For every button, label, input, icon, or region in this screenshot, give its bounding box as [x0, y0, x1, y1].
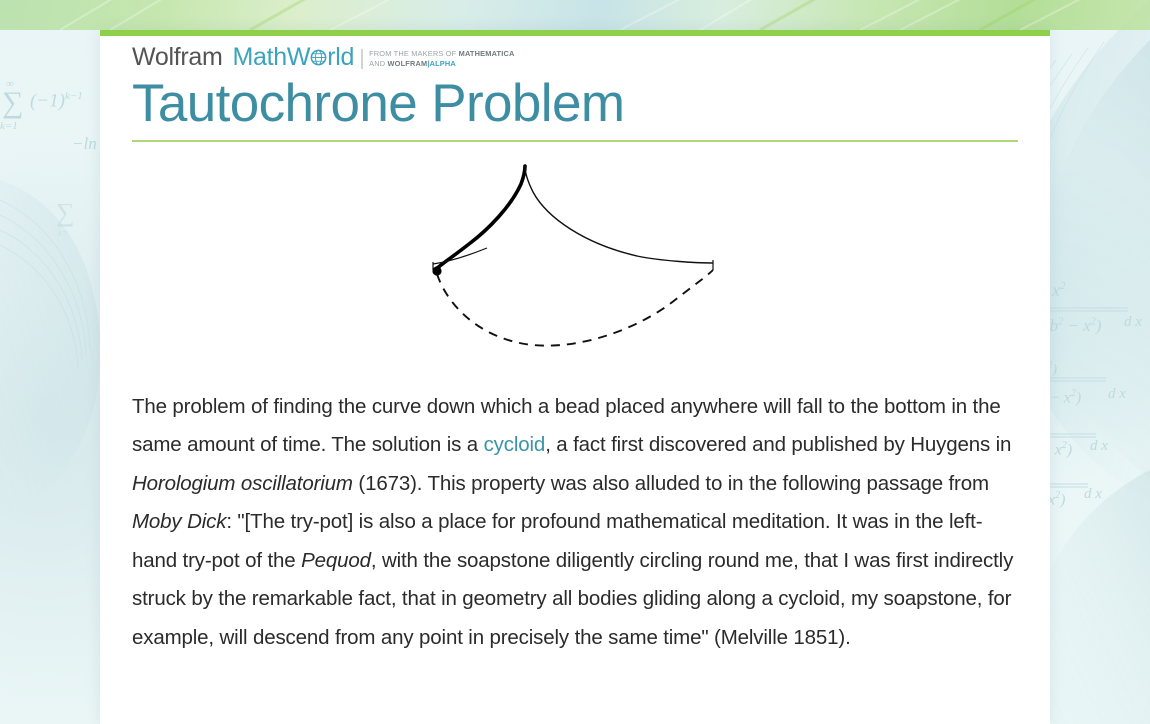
bg-math-minus-ln: −ln	[72, 134, 97, 154]
bg-math-sum-2: ∑	[56, 198, 75, 228]
figure-container	[132, 142, 1018, 372]
bead-dot	[432, 266, 441, 275]
logo-tagline: FROM THE MAKERS OF MATHEMATICA AND WOLFR…	[361, 49, 514, 69]
bg-math-infinity: ∞	[6, 78, 14, 90]
logo-text-w: W	[287, 45, 310, 70]
bg-math-fraction-bars	[1036, 300, 1150, 510]
tagline-mathematica: MATHEMATICA	[459, 49, 515, 58]
title-moby-dick: Moby Dick	[132, 510, 226, 533]
bg-math-minus-one-k: (−1)k−1	[30, 90, 83, 112]
tagline-wolfram: WOLFRAM	[387, 59, 427, 68]
bg-math-k-equals-1: k=1	[0, 120, 18, 132]
banner-streaks	[0, 0, 1150, 30]
top-decorative-banner	[0, 0, 1150, 30]
logo-tagline-line-2: AND WOLFRAM|ALPHA	[369, 59, 514, 69]
body-seg-2: , a fact first discovered and published …	[545, 433, 1011, 456]
tagline-alpha: |ALPHA	[427, 59, 456, 68]
tautochrone-cycloid-figure[interactable]	[425, 158, 725, 358]
article-body: The problem of finding the curve down wh…	[132, 388, 1018, 658]
globe-icon	[310, 46, 327, 63]
logo-word-mathworld: MathWrld	[233, 45, 355, 70]
article-paragraph: The problem of finding the curve down wh…	[132, 388, 1018, 658]
tagline-plain-2: AND	[369, 59, 387, 68]
page-title: Tautochrone Problem	[132, 76, 1018, 136]
bg-math-x-squared: x2	[1052, 280, 1066, 301]
tagline-plain-1: FROM THE MAKERS OF	[369, 49, 459, 58]
bg-math-k-equals-2: k=	[58, 228, 68, 238]
content-card: Wolfram MathWrld FROM THE MAKERS OF MATH…	[100, 30, 1050, 724]
logo-text-math: Math	[233, 45, 287, 70]
bg-math-sum-left: ∑	[2, 86, 23, 120]
logo-word-wolfram: Wolfram	[132, 45, 223, 70]
title-horologium-oscillatorium: Horologium oscillatorium	[132, 472, 353, 495]
logo-tagline-line-1: FROM THE MAKERS OF MATHEMATICA	[369, 49, 514, 59]
link-cycloid[interactable]: cycloid	[484, 433, 546, 456]
logo-text-rld: rld	[327, 45, 354, 70]
title-pequod: Pequod	[301, 549, 371, 572]
site-logo[interactable]: Wolfram MathWrld FROM THE MAKERS OF MATH…	[132, 36, 1018, 70]
body-seg-3: (1673). This property was also alluded t…	[353, 472, 989, 495]
